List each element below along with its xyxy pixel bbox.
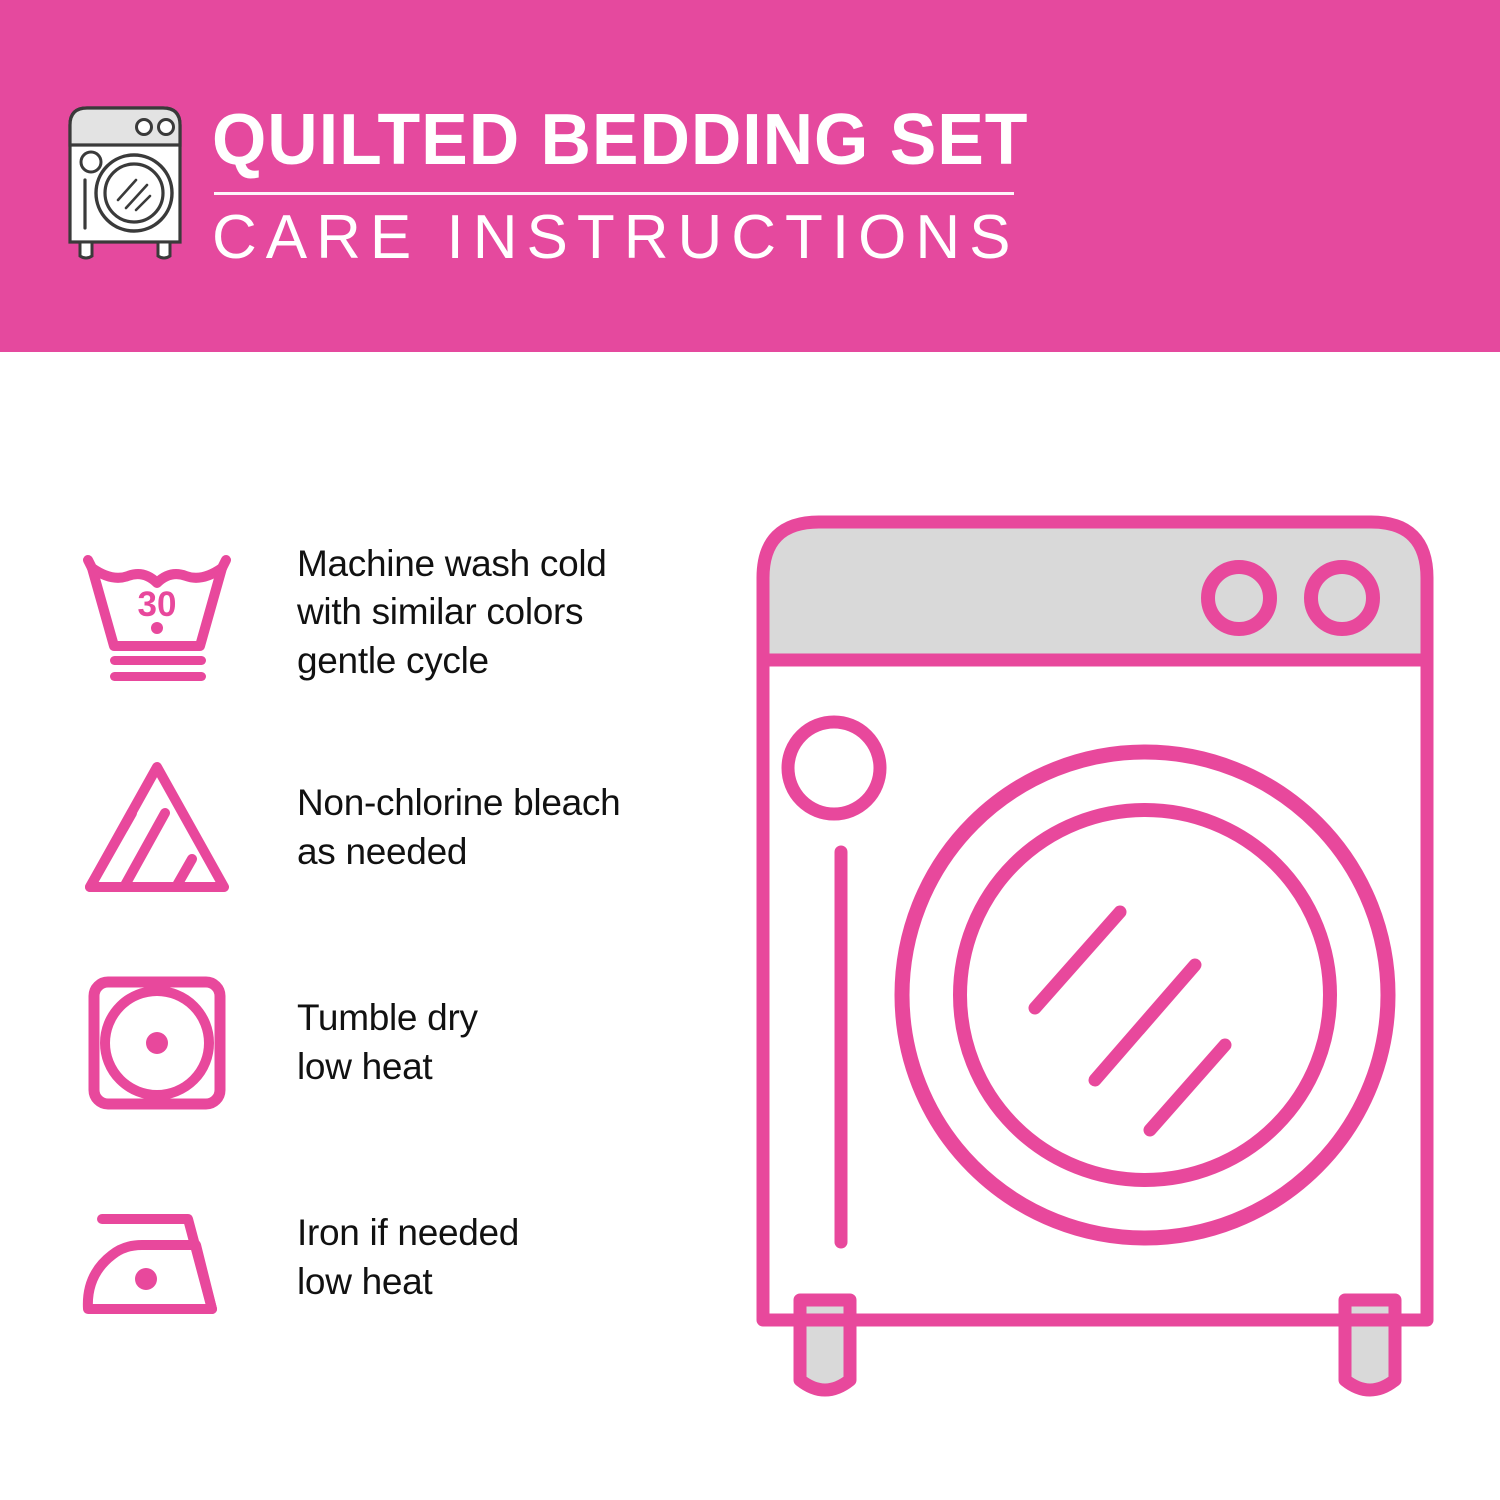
care-instruction-list: 30 Machine wash cold with similar colors…	[72, 505, 712, 1365]
care-text-tumble-dry: Tumble dry low heat	[242, 994, 478, 1090]
care-text-line: low heat	[297, 1043, 478, 1091]
header-title-block: QUILTED BEDDING SET CARE INSTRUCTIONS	[212, 100, 1054, 269]
machine-door-outer-ring	[902, 752, 1388, 1238]
washing-machine-icon	[60, 100, 190, 260]
wash-tub-30-gentle-icon: 30	[72, 538, 242, 688]
care-text-line: gentle cycle	[297, 637, 607, 685]
care-text-bleach: Non-chlorine bleach as needed	[242, 779, 620, 875]
care-row-bleach: Non-chlorine bleach as needed	[72, 720, 712, 935]
care-text-wash: Machine wash cold with similar colors ge…	[242, 540, 607, 684]
front-load-washing-machine-illustration	[745, 500, 1445, 1430]
wash-temperature-label: 30	[138, 585, 177, 624]
bleach-triangle-non-chlorine-icon	[72, 753, 242, 903]
header-content: QUILTED BEDDING SET CARE INSTRUCTIONS	[60, 100, 1054, 269]
care-text-line: with similar colors	[297, 588, 607, 636]
care-text-line: low heat	[297, 1258, 519, 1306]
page-subtitle: CARE INSTRUCTIONS	[212, 207, 1054, 269]
page-header: QUILTED BEDDING SET CARE INSTRUCTIONS	[0, 0, 1500, 352]
machine-indicator-circle	[788, 722, 880, 814]
care-row-wash: 30 Machine wash cold with similar colors…	[72, 505, 712, 720]
title-divider	[214, 192, 1014, 195]
page-title: QUILTED BEDDING SET	[212, 104, 1028, 176]
care-row-tumble-dry: Tumble dry low heat	[72, 935, 712, 1150]
care-row-iron: Iron if needed low heat	[72, 1150, 712, 1365]
machine-door-stripes	[1035, 912, 1225, 1130]
care-text-line: Iron if needed	[297, 1209, 519, 1257]
tumble-dry-low-heat-icon	[72, 968, 242, 1118]
iron-low-heat-icon	[72, 1183, 242, 1333]
care-text-line: as needed	[297, 828, 620, 876]
machine-control-panel	[763, 522, 1427, 660]
care-text-line: Machine wash cold	[297, 540, 607, 588]
machine-door-inner-ring	[960, 810, 1330, 1180]
care-text-line: Tumble dry	[297, 994, 478, 1042]
care-text-iron: Iron if needed low heat	[242, 1209, 519, 1305]
care-text-line: Non-chlorine bleach	[297, 779, 620, 827]
